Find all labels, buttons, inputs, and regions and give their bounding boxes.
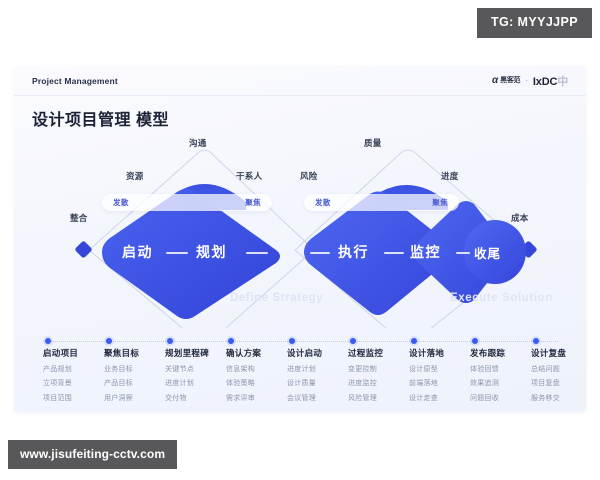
list-item: 产品规划 (43, 364, 111, 374)
column-item-list: 产品规划 立项背景 项目范围 (43, 364, 111, 403)
left-pill-diverge-label: 发散 (113, 197, 129, 208)
column-item-list: 变更控制 进度监控 风险管理 (348, 364, 416, 403)
column-item-list: 总结问题 项目复盘 服务移交 (531, 364, 586, 403)
timeline-column: 设计启动 进度计划 设计质量 会议管理 (287, 334, 355, 403)
list-item: 前端落地 (409, 378, 477, 388)
column-item-list: 体验回馈 效果追测 问题回收 (470, 364, 538, 403)
timeline-column: 启动项目 产品规划 立项背景 项目范围 (43, 334, 111, 403)
list-item: 业务目标 (104, 364, 172, 374)
timeline-column: 确认方案 信息架构 体验策略 需求评审 (226, 334, 294, 403)
list-item: 设计走查 (409, 393, 477, 403)
list-item: 总结问题 (531, 364, 586, 374)
double-diamond-diagram: Define Strategy Execute Solution 沟通 资源 干… (14, 132, 586, 328)
slide-card: Project Management α 黑客范 · IxDC中 设计项目管理 … (14, 66, 586, 412)
brand-ixdc-logo: IxDC中 (533, 73, 568, 89)
list-item: 关键节点 (165, 364, 233, 374)
list-item: 用户洞察 (104, 393, 172, 403)
list-item: 体验策略 (226, 378, 294, 388)
ghost-label-execute-solution: Execute Solution (450, 292, 553, 304)
stage-dash-4 (384, 252, 404, 254)
column-title: 设计复盘 (531, 347, 586, 359)
timeline-column: 设计落地 设计原型 前端落地 设计走查 (409, 334, 477, 403)
list-item: 需求评审 (226, 393, 294, 403)
list-item: 会议管理 (287, 393, 355, 403)
list-item: 产品目标 (104, 378, 172, 388)
list-item: 信息架构 (226, 364, 294, 374)
column-title: 设计启动 (287, 347, 355, 359)
right-diverge-converge-pill: 发散 聚焦 (304, 194, 459, 211)
stage-dash-1 (166, 252, 188, 254)
list-item: 设计原型 (409, 364, 477, 374)
column-title: 过程监控 (348, 347, 416, 359)
stage-word-qidong: 启动 (122, 242, 153, 262)
stage-word-zhixing: 执行 (338, 242, 369, 262)
list-item: 进度计划 (165, 378, 233, 388)
alpha-glyph-icon: α (492, 76, 498, 86)
outer-label-zhi-liang: 质量 (364, 137, 382, 149)
list-item: 效果追测 (470, 378, 538, 388)
list-item: 立项背景 (43, 378, 111, 388)
right-pill-diverge-label: 发散 (315, 197, 331, 208)
column-item-list: 关键节点 进度计划 交付物 (165, 364, 233, 403)
list-item: 交付物 (165, 393, 233, 403)
list-item: 进度监控 (348, 378, 416, 388)
stage-dash-2 (246, 252, 268, 254)
column-item-list: 信息架构 体验策略 需求评审 (226, 364, 294, 403)
card-header: Project Management α 黑客范 · IxDC中 (14, 66, 586, 96)
brand-alpha-cn-label: 黑客范 (500, 77, 520, 84)
list-item: 项目复盘 (531, 378, 586, 388)
column-title: 发布跟踪 (470, 347, 538, 359)
column-title: 设计落地 (409, 347, 477, 359)
list-item: 服务移交 (531, 393, 586, 403)
brand-logo-group: α 黑客范 · IxDC中 (492, 73, 568, 89)
stage-word-shouwei: 收尾 (474, 243, 501, 262)
site-url-watermark: www.jisufeiting-cctv.com (8, 440, 177, 469)
timeline-column: 设计复盘 总结问题 项目复盘 服务移交 (531, 334, 586, 403)
timeline-column: 聚焦目标 业务目标 产品目标 用户洞察 (104, 334, 172, 403)
stage-word-guihua: 规划 (196, 242, 227, 262)
telegram-watermark-badge: TG: MYYJJPP (477, 8, 592, 38)
timeline-column: 过程监控 变更控制 进度监控 风险管理 (348, 334, 416, 403)
screenshot-root: TG: MYYJJPP Project Management α 黑客范 · I… (0, 0, 600, 480)
column-item-list: 设计原型 前端落地 设计走查 (409, 364, 477, 403)
brand-ixdc-label: IxDC (533, 76, 557, 88)
list-item: 风险管理 (348, 393, 416, 403)
page-title: 设计项目管理 模型 (32, 106, 169, 130)
column-item-list: 业务目标 产品目标 用户洞察 (104, 364, 172, 403)
list-item: 体验回馈 (470, 364, 538, 374)
ghost-label-define-strategy: Define Strategy (230, 292, 323, 304)
card-eyebrow-label: Project Management (32, 76, 118, 86)
outer-label-zheng-he: 整合 (70, 212, 88, 224)
brand-separator-icon: · (525, 76, 528, 85)
outer-label-gan-xi-ren: 干系人 (236, 170, 262, 182)
list-item: 问题回收 (470, 393, 538, 403)
left-diverge-converge-pill: 发散 聚焦 (102, 194, 272, 211)
stage-dash-5 (456, 252, 470, 254)
list-item: 变更控制 (348, 364, 416, 374)
stage-word-jiankong: 监控 (410, 242, 441, 262)
outer-label-jin-du: 进度 (441, 170, 459, 182)
outer-label-cheng-ben: 成本 (511, 212, 529, 224)
column-title: 聚焦目标 (104, 347, 172, 359)
column-title: 启动项目 (43, 347, 111, 359)
list-item: 进度计划 (287, 364, 355, 374)
list-item: 设计质量 (287, 378, 355, 388)
outer-label-zi-yuan: 资源 (126, 170, 144, 182)
column-title: 规划里程碑 (165, 347, 233, 359)
list-item: 项目范围 (43, 393, 111, 403)
brand-alpha-logo: α 黑客范 (492, 76, 520, 86)
left-end-diamond-marker (74, 240, 92, 258)
column-title: 确认方案 (226, 347, 294, 359)
brand-ixdc-suffix: 中 (557, 76, 568, 88)
outer-label-feng-xian: 风险 (300, 170, 318, 182)
outer-label-gou-tong: 沟通 (189, 137, 207, 149)
timeline-column: 规划里程碑 关键节点 进度计划 交付物 (165, 334, 233, 403)
left-pill-converge-label: 聚焦 (245, 197, 261, 208)
deliverables-timeline: 启动项目 产品规划 立项背景 项目范围 聚焦目标 业务目标 产品目标 用户洞察 … (14, 334, 586, 412)
column-item-list: 进度计划 设计质量 会议管理 (287, 364, 355, 403)
right-pill-converge-label: 聚焦 (432, 197, 448, 208)
stage-dash-3 (310, 252, 330, 254)
timeline-column: 发布跟踪 体验回馈 效果追测 问题回收 (470, 334, 538, 403)
